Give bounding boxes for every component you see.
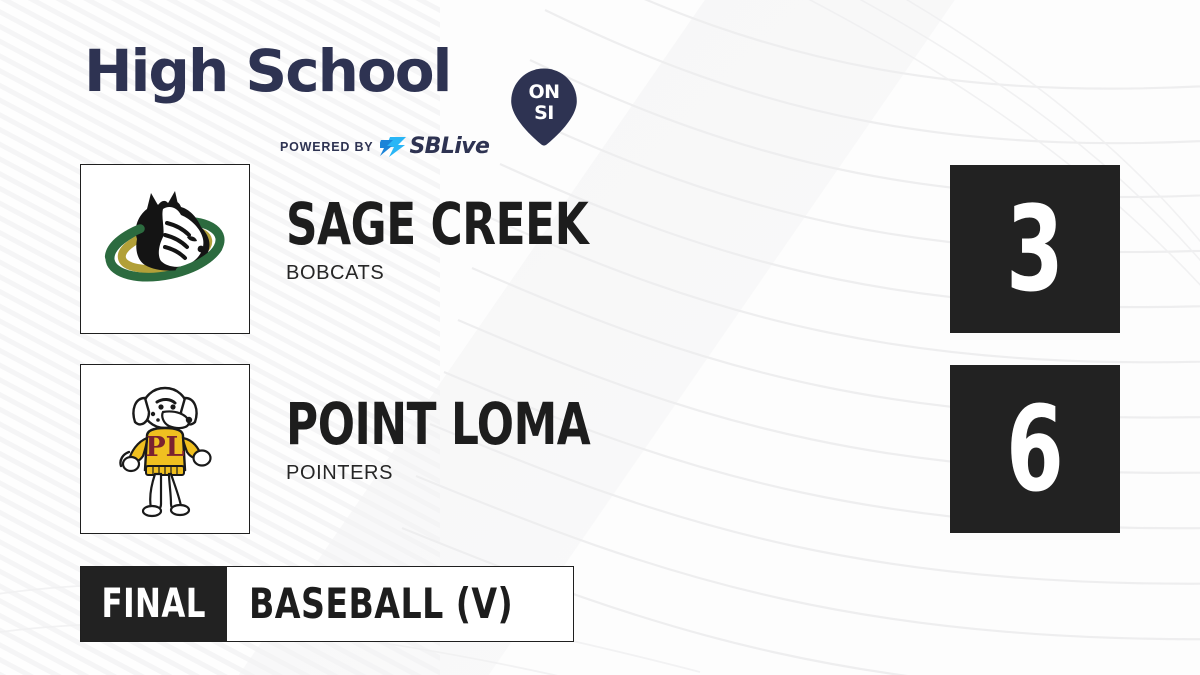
team-name: SAGE CREEK — [286, 194, 807, 254]
team-row: SAGE CREEK BOBCATS 3 — [80, 164, 1120, 334]
team-text-block: POINT LOMA POINTERS — [286, 394, 906, 485]
pin-label-bottom: SI — [534, 102, 554, 124]
team-name: POINT LOMA — [286, 394, 807, 454]
game-status-bar: FINAL BASEBALL (V) — [80, 566, 574, 642]
sblive-logo: SBLive — [380, 136, 489, 158]
on-si-pin-icon: ON SI — [510, 68, 578, 146]
pl-monogram: PL — [145, 432, 184, 463]
status-badge: FINAL — [81, 567, 227, 641]
sport-label: BASEBALL (V) — [249, 583, 513, 625]
team-score: 3 — [1006, 190, 1064, 308]
powered-by-label: POWERED BY — [280, 140, 373, 154]
sblive-lightning-icon — [380, 137, 406, 157]
sport-label-container: BASEBALL (V) — [227, 567, 573, 641]
team-score-box: 6 — [950, 365, 1120, 533]
team-mascot: POINTERS — [286, 462, 906, 485]
team-mascot: BOBCATS — [286, 262, 906, 285]
bobcat-head-logo — [95, 179, 235, 319]
pin-label-top: ON — [528, 81, 559, 103]
powered-by-block: POWERED BY SBLive — [280, 136, 489, 158]
brand-header: High School ON SI POWERED BY SBLive — [80, 30, 550, 135]
team-score: 6 — [1006, 390, 1064, 508]
status-badge-label: FINAL — [102, 584, 206, 624]
brand-wordmark: High School — [84, 36, 450, 106]
team-text-block: SAGE CREEK BOBCATS — [286, 194, 906, 285]
team-logo-box — [80, 164, 250, 334]
team-row: PL POINT LOMA POINTERS 6 — [80, 364, 1120, 534]
sblive-wordmark: SBLive — [409, 136, 489, 158]
team-score-box: 3 — [950, 165, 1120, 333]
team-logo-box: PL — [80, 364, 250, 534]
pointer-dog-mascot-logo: PL — [101, 378, 229, 520]
